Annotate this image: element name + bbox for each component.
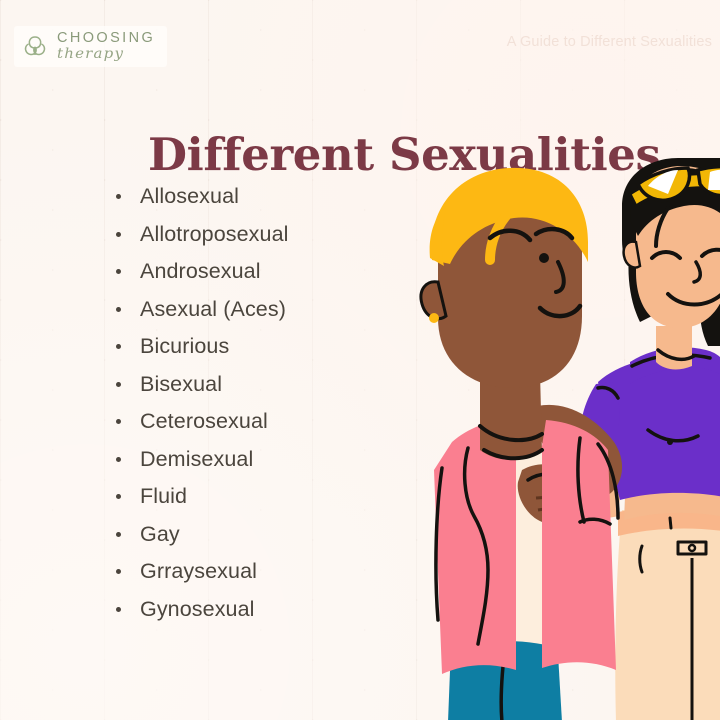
list-item: Bicurious — [116, 328, 289, 366]
list-item: Demisexual — [116, 441, 289, 479]
list-item-label: Ceterosexual — [140, 409, 268, 434]
brand-name-secondary: therapy — [57, 47, 155, 61]
list-item: Bisexual — [116, 366, 289, 404]
list-item: Grraysexual — [116, 553, 289, 591]
bullet-icon — [116, 457, 121, 462]
list-item-label: Allosexual — [140, 184, 239, 209]
list-item-label: Asexual (Aces) — [140, 297, 286, 322]
bullet-icon — [116, 344, 121, 349]
list-item: Androsexual — [116, 253, 289, 291]
sexualities-list: Allosexual Allotroposexual Androsexual A… — [116, 178, 289, 628]
brand-logo-text: CHOOSING therapy — [57, 31, 155, 62]
list-item-label: Gay — [140, 522, 180, 547]
list-item: Asexual (Aces) — [116, 291, 289, 329]
bullet-icon — [116, 382, 121, 387]
bullet-icon — [116, 494, 121, 499]
bullet-icon — [116, 569, 121, 574]
list-item: Allosexual — [116, 178, 289, 216]
bullet-icon — [116, 269, 121, 274]
bullet-icon — [116, 419, 121, 424]
list-item-label: Fluid — [140, 484, 187, 509]
bullet-icon — [116, 607, 121, 612]
list-item-label: Androsexual — [140, 259, 261, 284]
list-item: Ceterosexual — [116, 403, 289, 441]
list-item: Gay — [116, 516, 289, 554]
bullet-icon — [116, 232, 121, 237]
bullet-icon — [116, 194, 121, 199]
bullet-icon — [116, 307, 121, 312]
list-item-label: Bisexual — [140, 372, 222, 397]
brand-name-primary: CHOOSING — [57, 31, 155, 46]
list-item: Fluid — [116, 478, 289, 516]
list-item: Gynosexual — [116, 591, 289, 629]
list-item-label: Demisexual — [140, 447, 253, 472]
list-item-label: Bicurious — [140, 334, 229, 359]
bullet-icon — [116, 532, 121, 537]
leaf-plant-icon — [20, 31, 50, 61]
list-item-label: Allotroposexual — [140, 222, 289, 247]
list-item-label: Gynosexual — [140, 597, 255, 622]
brand-logo[interactable]: CHOOSING therapy — [14, 26, 167, 67]
list-item-label: Grraysexual — [140, 559, 257, 584]
guide-caption: A Guide to Different Sexualities — [507, 34, 712, 50]
poster-canvas: CHOOSING therapy A Guide to Different Se… — [0, 0, 720, 720]
two-people-illustration — [330, 150, 720, 720]
list-item: Allotroposexual — [116, 216, 289, 254]
